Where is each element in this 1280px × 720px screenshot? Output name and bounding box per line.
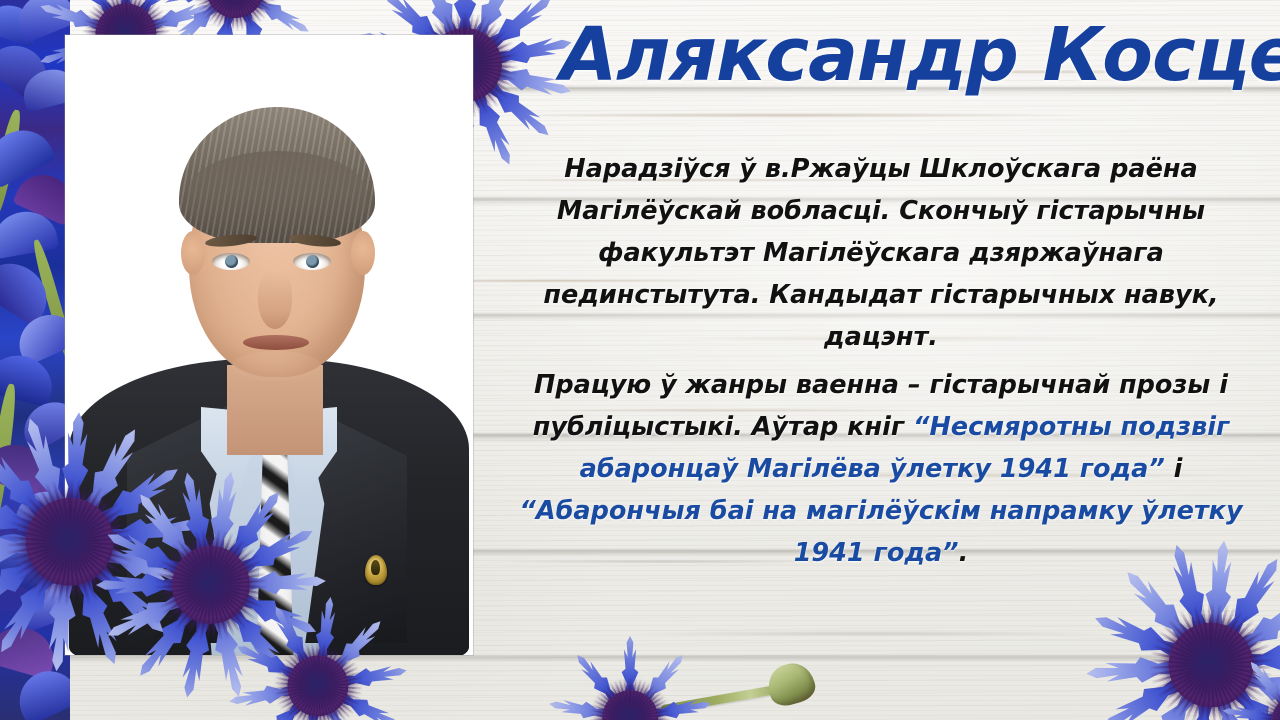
cornflower-band-left [0, 0, 70, 720]
sentence-period: . [959, 538, 969, 568]
mouth-shape [243, 335, 309, 350]
chin-shape [231, 351, 321, 381]
biography-text: Нарадзіўся ў в.Ржаўцы Шклоўскага раёна М… [486, 148, 1276, 574]
ear-right [351, 231, 375, 275]
eye-left [212, 253, 250, 270]
nose-shape [258, 271, 292, 329]
page-title: Аляксандр Косцераў [560, 18, 1270, 92]
book-title-2: “Абарончыя баі на магілёўскім напрамку ў… [519, 496, 1242, 568]
biography-paragraph-1: Нарадзіўся ў в.Ржаўцы Шклоўскага раёна М… [486, 148, 1276, 358]
ear-left [181, 231, 205, 275]
portrait-illustration [65, 35, 473, 655]
eye-right [293, 253, 331, 270]
hair-shape [179, 107, 375, 243]
portrait-photo [65, 35, 473, 655]
biography-paragraph-2: Працую ў жанры ваенна – гістарычнай проз… [486, 364, 1276, 574]
lapel-pin-icon [365, 555, 387, 585]
slide-canvas: Аляксандр Косцераў Нарадзіўся ў в.Ржаўцы… [0, 0, 1280, 720]
book-conjunction: і [1165, 454, 1183, 484]
